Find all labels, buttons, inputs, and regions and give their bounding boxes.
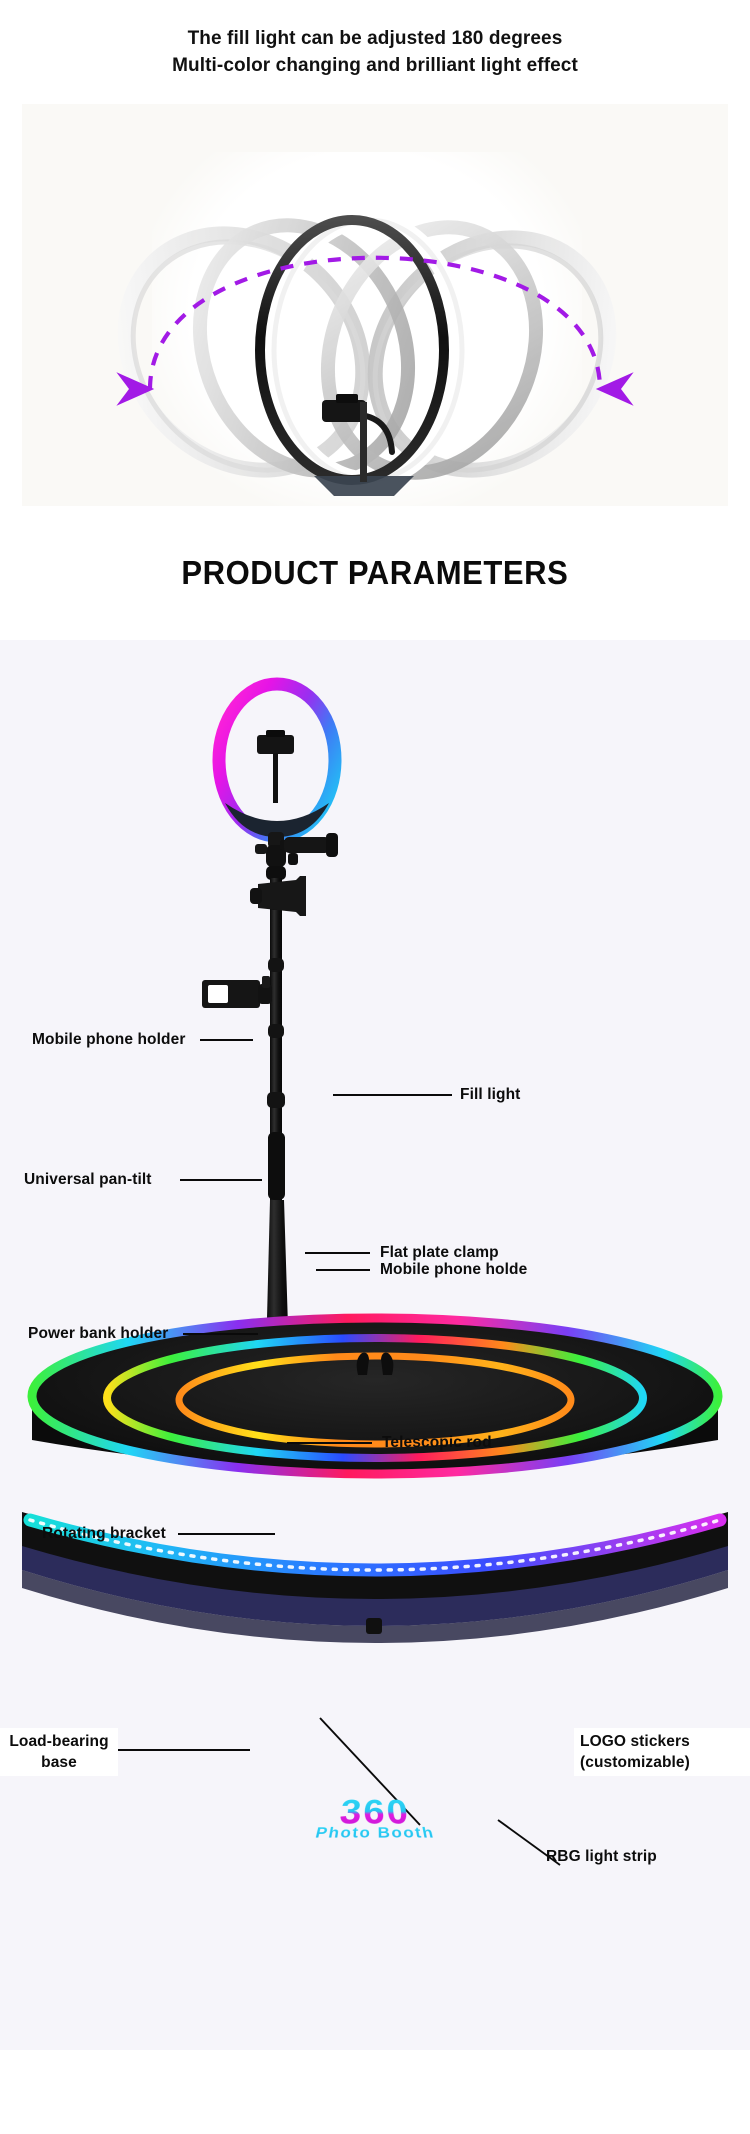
callout-load-bearing-base-line1: Load-bearing (6, 1731, 112, 1752)
leader-logo-stickers (320, 1718, 420, 1825)
phone-holder-top (257, 730, 294, 803)
callout-load-bearing-base: Load-bearing base (0, 1728, 118, 1776)
callout-fill-light: Fill light (460, 1084, 520, 1105)
callout-universal-pan-tilt: Universal pan-tilt (24, 1169, 152, 1190)
callout-power-bank-holder: Power bank holder (28, 1323, 168, 1344)
360-photo-booth-exploded-illustration: 360 (0, 640, 750, 2050)
flat-plate-clamp-part (250, 876, 306, 916)
callout-flat-plate-clamp: Flat plate clamp (380, 1242, 499, 1263)
product-infographic-page: The fill light can be adjusted 180 degre… (0, 0, 750, 2134)
footer-spacer (0, 2050, 750, 2134)
telescopic-grip (268, 1132, 285, 1200)
callout-telescopic-rod: Telescopic rod (382, 1432, 492, 1453)
page-title: PRODUCT PARAMETERS (181, 554, 568, 592)
callout-load-bearing-base-line2: base (6, 1752, 112, 1773)
section-title-block: PRODUCT PARAMETERS (0, 506, 750, 640)
callout-rbg-light-strip: RBG light strip (546, 1846, 657, 1867)
power-bank-holder-part (202, 976, 272, 1008)
callout-rotating-bracket: Rotating bracket (42, 1523, 166, 1544)
product-parameters-diagram: 360 (0, 640, 750, 2050)
callout-logo-stickers-line1: LOGO stickers (580, 1731, 744, 1752)
headline-line-1: The fill light can be adjusted 180 degre… (188, 25, 563, 52)
hero-photo-panel (22, 104, 728, 506)
callout-logo-stickers: LOGO stickers (customizable) (574, 1728, 750, 1776)
callout-mobile-phone-holder-top: Mobile phone holder (32, 1029, 185, 1050)
ring-inner-plate (225, 803, 329, 837)
headline-line-2: Multi-color changing and brilliant light… (172, 52, 578, 79)
phone-holder-arm (280, 833, 338, 865)
headline-block: The fill light can be adjusted 180 degre… (0, 0, 750, 104)
ring-light-rotation-illustration (22, 104, 728, 506)
callout-logo-stickers-line2: (customizable) (580, 1752, 744, 1773)
